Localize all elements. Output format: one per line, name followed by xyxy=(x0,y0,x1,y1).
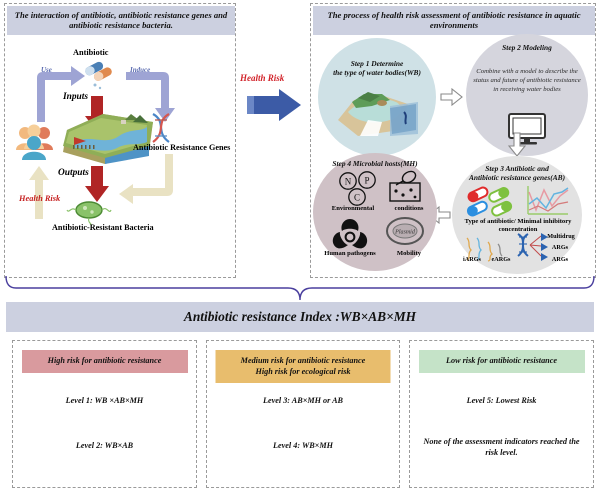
dna-helix-icon xyxy=(147,112,181,146)
risk-column-low: Low risk for antibiotic resistance Level… xyxy=(409,340,594,488)
risk-level-2: Level 2: WB×AB xyxy=(13,441,196,452)
svg-text:C: C xyxy=(354,193,360,203)
step2-body: Combine with a model to describe the sta… xyxy=(466,68,588,95)
label-health-risk-middle: Health Risk xyxy=(240,73,284,83)
label-antibiotic: Antibiotic xyxy=(73,48,109,57)
step3-caption-type-mic: Type of antibiotic/ Minimal inhibitory c… xyxy=(460,218,576,233)
risk-column-medium: Medium risk for antibiotic resistance Hi… xyxy=(206,340,400,488)
water-body-icon xyxy=(338,90,418,138)
risk-level-5: Level 5: Lowest Risk xyxy=(410,396,593,407)
label-induce: Induce xyxy=(130,66,150,74)
risk-level-3: Level 3: AB×MH or AB xyxy=(207,396,399,407)
risk-level-5-note: None of the assessment indicators reache… xyxy=(410,437,593,458)
step1-title: Step 1 Determine the type of water bodie… xyxy=(318,60,436,78)
curly-brace xyxy=(0,272,600,306)
bacterium-icon xyxy=(67,196,111,226)
people-group-icon xyxy=(15,122,55,160)
label-antibiotic-resistant-bacteria: Antibiotic-Resistant Bacteria xyxy=(52,223,154,232)
risk-column-high: High risk for antibiotic resistance Leve… xyxy=(12,340,197,488)
antibiotic-pills-icon xyxy=(83,58,117,90)
npc-nutrients-icon: N P C xyxy=(337,171,383,205)
step3-caption-args-2: ARGs xyxy=(542,244,578,251)
step2-title: Step 2 Modeling xyxy=(466,44,588,53)
step4-caption-human-pathogens: Human pathogens xyxy=(315,250,385,258)
risk-badge-medium: Medium risk for antibiotic resistance Hi… xyxy=(216,350,391,383)
risk-badge-low: Low risk for antibiotic resistance xyxy=(419,350,585,373)
step4-caption-mobility: Mobility xyxy=(387,250,431,258)
svg-text:P: P xyxy=(364,176,369,186)
risk-level-4: Level 4: WB×MH xyxy=(207,441,399,452)
plasmid-icon: Plasmid xyxy=(383,215,427,249)
plasmid-label: Plasmid xyxy=(394,230,416,236)
label-health-risk-left: Health Risk xyxy=(19,194,60,203)
label-outputs: Outputs xyxy=(58,168,89,178)
biohazard-icon xyxy=(329,215,371,251)
step4-caption-environmental: Environmental xyxy=(321,205,385,213)
step4-circle: Step 4 Microbial hosts(MH) N P C Environ… xyxy=(313,153,437,271)
capsules-icon xyxy=(466,186,518,218)
label-inputs: Inputs xyxy=(63,92,88,102)
figure-canvas: The interaction of antibiotic, antibioti… xyxy=(0,0,600,493)
river-ecosystem-icon xyxy=(61,112,153,167)
step2-circle: Step 2 Modeling Combine with a model to … xyxy=(466,34,588,156)
arrow-step1-to-step2-icon xyxy=(440,88,464,106)
step4-title: Step 4 Microbial hosts(MH) xyxy=(313,160,437,169)
step4-caption-conditions: conditions xyxy=(385,205,433,213)
antibiotic-resistance-index-bar: Antibiotic resistance Index :WB×AB×MH xyxy=(6,302,594,332)
panel-interaction: The interaction of antibiotic, antibioti… xyxy=(4,3,236,278)
mic-line-plot-icon xyxy=(524,184,570,220)
label-use: Use xyxy=(41,66,52,74)
step3-caption-multidrug: Multidrug xyxy=(540,233,582,240)
step3-caption-iargs: iARGs xyxy=(458,256,486,263)
health-risk-arrow-icon xyxy=(247,88,303,122)
label-antibiotic-resistance-genes: Antibiotic Resistance Genes xyxy=(133,143,230,152)
arrow-step2-to-step3-icon xyxy=(508,132,526,158)
lab-conditions-icon xyxy=(387,171,423,205)
risk-badge-high: High risk for antibiotic resistance xyxy=(22,350,188,373)
step3-caption-eargs: eARGs xyxy=(486,256,516,263)
step3-circle: Step 3 Antibiotic and Antibiotic resista… xyxy=(452,156,582,274)
step3-title: Step 3 Antibiotic and Antibiotic resista… xyxy=(452,165,582,183)
step1-circle: Step 1 Determine the type of water bodie… xyxy=(318,38,436,156)
svg-text:N: N xyxy=(345,177,352,187)
risk-level-1: Level 1: WB ×AB×MH xyxy=(13,396,196,407)
panel-right-title: The process of health risk assessment of… xyxy=(313,6,595,35)
step3-caption-args-3: ARGs xyxy=(542,256,578,263)
